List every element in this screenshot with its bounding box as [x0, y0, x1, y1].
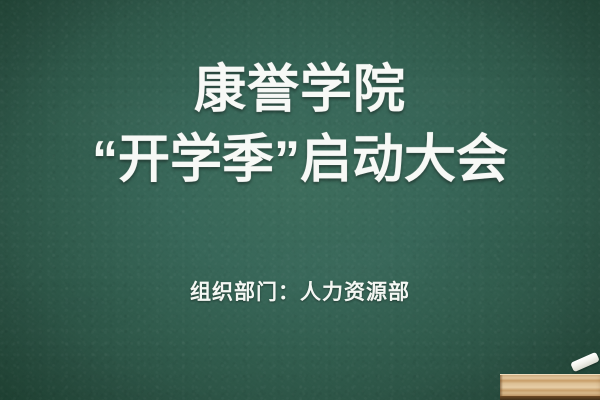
chalkboard-slide: 康誉学院 “开学季”启动大会 组织部门：人力资源部: [0, 0, 600, 400]
title-line-1: 康誉学院: [0, 62, 600, 118]
chalk-ledge-base-shadow: [500, 396, 600, 400]
chalk-ledge-wood-surface: [500, 374, 600, 397]
chalk-ledge-left-edge: [500, 375, 503, 397]
page-title: 康誉学院 “开学季”启动大会: [0, 62, 600, 188]
slide-content: 康誉学院 “开学季”启动大会 组织部门：人力资源部: [0, 0, 600, 400]
subtitle-organizing-department: 组织部门：人力资源部: [0, 276, 600, 306]
chalk-ledge: [500, 374, 600, 400]
title-line-2: “开学季”启动大会: [0, 132, 600, 188]
